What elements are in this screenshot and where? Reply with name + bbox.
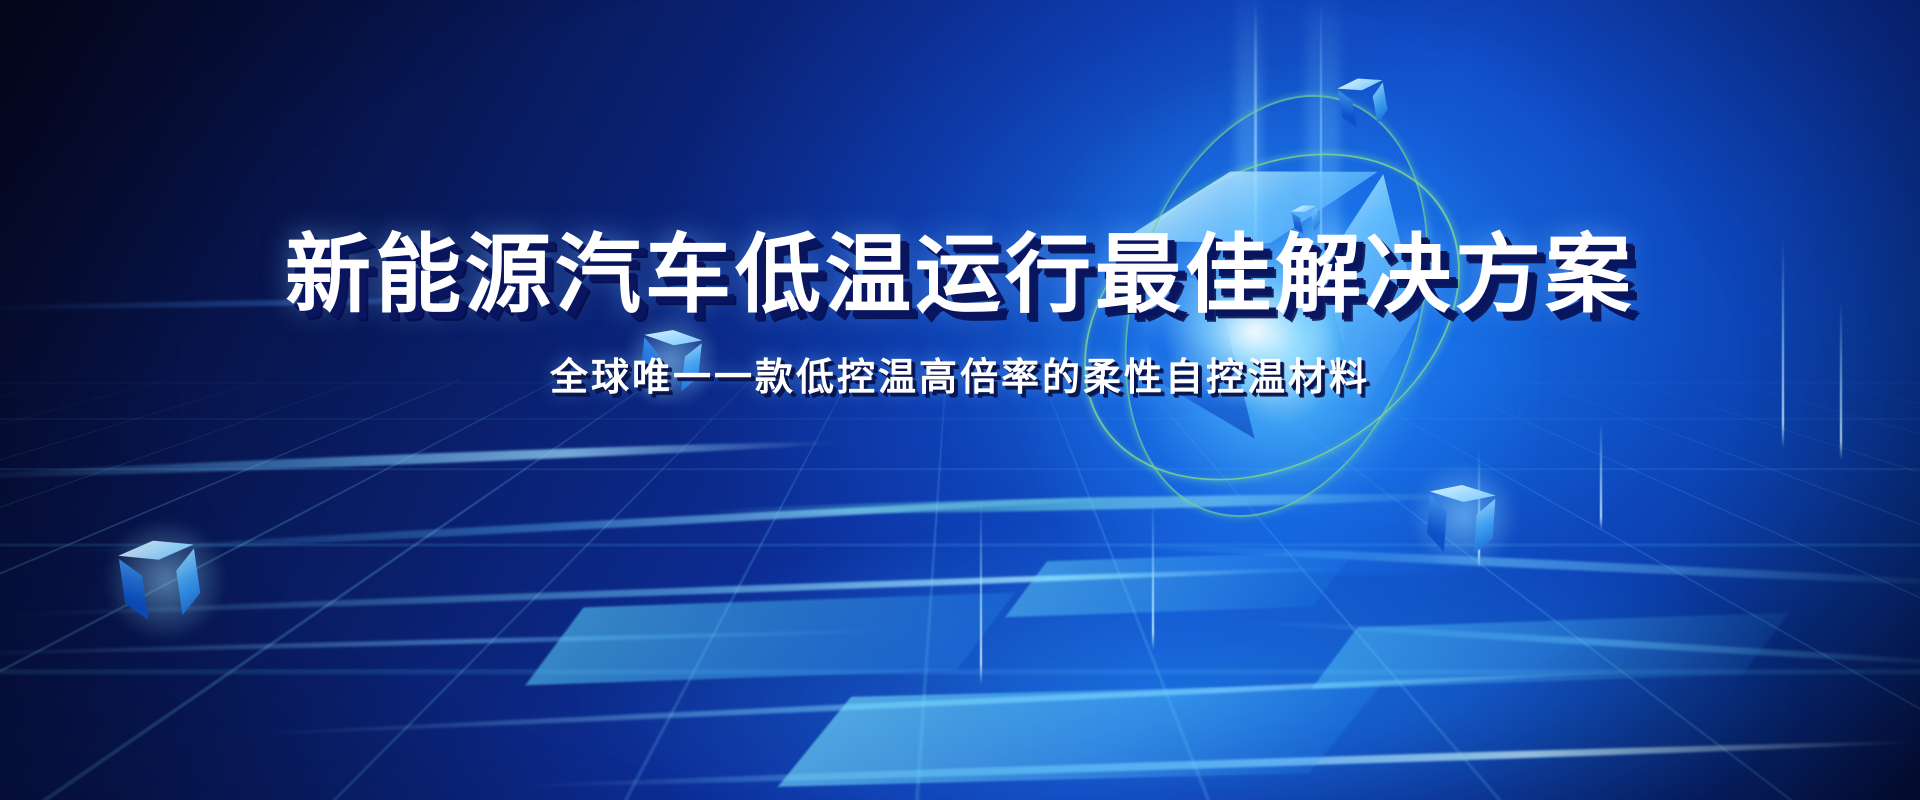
- page-subtitle: 全球唯一一款低控温高倍率的柔性自控温材料: [0, 346, 1920, 401]
- floor-panel-2: [778, 683, 1382, 787]
- hero-text-block: 新能源汽车低温运行最佳解决方案 全球唯一一款低控温高倍率的柔性自控温材料: [0, 232, 1920, 401]
- hero-banner: 新能源汽车低温运行最佳解决方案 全球唯一一款低控温高倍率的柔性自控温材料: [0, 0, 1920, 800]
- floating-cube-right-edge: [1426, 483, 1497, 555]
- cube-face-right: [1458, 495, 1496, 555]
- page-title: 新能源汽车低温运行最佳解决方案: [0, 232, 1920, 320]
- floating-cube-bottom-left: [117, 535, 203, 623]
- floating-cube-top-right: [1336, 74, 1390, 129]
- cube-face-left: [1426, 493, 1465, 553]
- beam-8: [1600, 420, 1602, 530]
- cube-face-left: [119, 552, 168, 623]
- beam-5: [980, 500, 982, 685]
